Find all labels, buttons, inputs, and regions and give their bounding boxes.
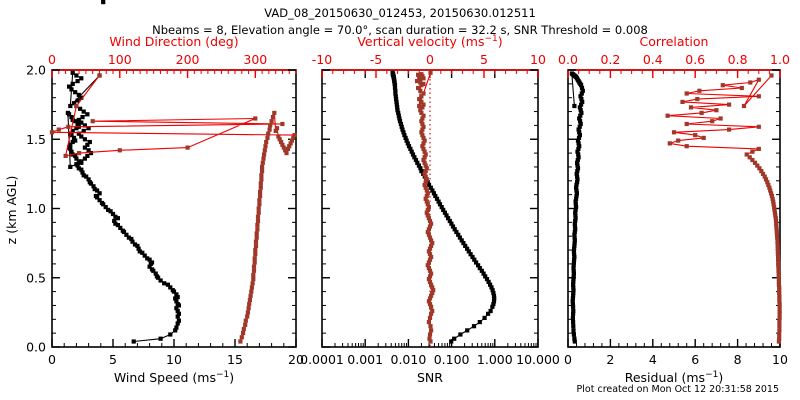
- data-point: [248, 298, 252, 302]
- data-point: [101, 0, 105, 4]
- data-point: [391, 71, 395, 75]
- data-point: [80, 115, 84, 119]
- data-point: [419, 72, 423, 76]
- data-point: [258, 190, 262, 194]
- data-point: [254, 240, 258, 244]
- data-point: [778, 316, 782, 320]
- x-tick-label: 1.000: [477, 352, 513, 367]
- data-point: [571, 309, 575, 313]
- data-point: [710, 119, 714, 123]
- data-point: [255, 227, 259, 231]
- data-point: [177, 319, 181, 323]
- data-point: [258, 194, 262, 198]
- data-point: [263, 148, 267, 152]
- data-point: [247, 306, 251, 310]
- data-point: [255, 223, 259, 227]
- data-point: [264, 140, 268, 144]
- data-point: [740, 86, 744, 90]
- x-tick-label: 0.001: [347, 352, 383, 367]
- data-point: [241, 331, 245, 335]
- top-x-tick-label: 5: [480, 52, 488, 67]
- data-point: [79, 159, 83, 163]
- data-point: [685, 122, 689, 126]
- data-point: [572, 332, 576, 336]
- data-point: [293, 133, 297, 137]
- x-tick-label: 10.000: [516, 352, 560, 367]
- data-point: [82, 110, 86, 114]
- data-point: [284, 151, 288, 155]
- data-point: [483, 316, 487, 320]
- data-point: [254, 244, 258, 248]
- x-tick-label: 2: [606, 352, 614, 367]
- data-point: [112, 219, 116, 223]
- data-point: [680, 100, 684, 104]
- data-point: [77, 151, 81, 155]
- top-x-tick-label: 0.2: [600, 52, 620, 67]
- data-point: [79, 76, 83, 80]
- data-point: [428, 332, 432, 336]
- data-point: [700, 111, 704, 115]
- x-tick-label: 6: [691, 352, 699, 367]
- data-point: [452, 337, 456, 341]
- data-point: [777, 332, 781, 336]
- top-x-tick-label: 0.6: [685, 52, 705, 67]
- data-point: [727, 103, 731, 107]
- data-point: [689, 105, 693, 109]
- data-point: [66, 111, 70, 115]
- top-x-tick-label: 0.8: [728, 52, 748, 67]
- data-point: [57, 128, 61, 132]
- data-point: [68, 104, 72, 108]
- data-point: [280, 122, 284, 126]
- y-tick-label: 0.0: [26, 340, 46, 355]
- data-point: [465, 328, 469, 332]
- data-point: [769, 73, 773, 77]
- data-point: [572, 337, 576, 341]
- data-point: [777, 328, 781, 332]
- data-point: [186, 146, 190, 150]
- data-point: [251, 277, 255, 281]
- data-point: [71, 82, 75, 86]
- y-tick-label: 0.5: [26, 270, 46, 285]
- data-point: [240, 335, 244, 339]
- data-point: [428, 71, 432, 75]
- data-point: [253, 252, 257, 256]
- y-axis-label: z (km AGL): [4, 176, 19, 245]
- plot-canvas: VAD_08_20150630_012453, 20150630.012511 …: [0, 0, 800, 400]
- x-tick-label: 10: [772, 352, 788, 367]
- data-point: [118, 148, 122, 152]
- data-point: [247, 302, 251, 306]
- data-point: [676, 139, 680, 143]
- data-point: [66, 125, 70, 129]
- data-point: [428, 324, 432, 328]
- top-x-axis-label: Correlation: [640, 34, 709, 49]
- data-point: [714, 108, 718, 112]
- data-point: [257, 206, 261, 210]
- data-point: [255, 236, 259, 240]
- top-x-tick-label: 0: [426, 52, 434, 67]
- data-point: [748, 80, 752, 84]
- data-point: [275, 126, 279, 130]
- data-point: [259, 182, 263, 186]
- footer-timestamp: Plot created on Mon Oct 12 20:31:58 2015: [577, 384, 779, 395]
- data-point: [256, 219, 260, 223]
- data-point: [174, 326, 178, 330]
- data-point: [257, 211, 261, 215]
- data-point: [253, 256, 257, 260]
- data-point: [85, 112, 89, 116]
- data-point: [50, 130, 54, 134]
- data-point: [570, 71, 574, 75]
- svg-text:Vertical velocity (ms−1): Vertical velocity (ms−1): [357, 34, 502, 49]
- data-point: [489, 309, 493, 313]
- data-point: [261, 161, 265, 165]
- x-tick-label: 15: [227, 352, 243, 367]
- data-point: [265, 136, 269, 140]
- data-point: [777, 324, 781, 328]
- data-point: [757, 125, 761, 129]
- data-point: [266, 132, 270, 136]
- data-point: [91, 119, 95, 123]
- data-point: [571, 324, 575, 328]
- data-point: [685, 91, 689, 95]
- y-tick-label: 2.0: [26, 63, 46, 78]
- data-point: [242, 327, 246, 331]
- data-point: [697, 89, 701, 93]
- data-point: [74, 162, 78, 166]
- data-point: [268, 123, 272, 127]
- data-point: [64, 154, 68, 158]
- data-point: [430, 309, 434, 313]
- data-point: [74, 104, 78, 108]
- data-point: [97, 73, 101, 77]
- data-point: [727, 128, 731, 132]
- data-point: [168, 332, 172, 336]
- top-x-axis-label: Vertical velocity (ms−1): [357, 34, 502, 49]
- data-point: [702, 136, 706, 140]
- data-point: [672, 130, 676, 134]
- data-point: [685, 144, 689, 148]
- data-point: [427, 320, 431, 324]
- x-tick-label: 0.010: [391, 352, 427, 367]
- data-point: [83, 137, 87, 141]
- data-point: [252, 265, 256, 269]
- data-point: [263, 144, 267, 148]
- data-point: [259, 186, 263, 190]
- data-point: [571, 328, 575, 332]
- data-point: [572, 104, 576, 108]
- data-point: [246, 310, 250, 314]
- data-point: [73, 90, 77, 94]
- x-tick-label: 0.100: [434, 352, 470, 367]
- data-point: [252, 269, 256, 273]
- data-point: [74, 73, 78, 77]
- data-point: [742, 104, 746, 108]
- data-point: [245, 314, 249, 318]
- data-point: [238, 339, 242, 343]
- data-point: [666, 114, 670, 118]
- top-x-tick-label: 10: [530, 52, 546, 67]
- data-point: [85, 154, 89, 158]
- data-point: [271, 115, 275, 119]
- data-point: [253, 248, 257, 252]
- data-point: [253, 260, 257, 264]
- top-x-tick-label: 300: [243, 52, 267, 67]
- data-point: [162, 281, 166, 285]
- data-point: [695, 97, 699, 101]
- data-point: [719, 116, 723, 120]
- top-x-tick-label: -10: [312, 52, 332, 67]
- figure-title-line1: VAD_08_20150630_012453, 20150630.012511: [264, 6, 536, 20]
- data-point: [721, 83, 725, 87]
- data-point: [68, 165, 72, 169]
- data-point: [777, 320, 781, 324]
- data-point: [250, 285, 254, 289]
- data-point: [757, 147, 761, 151]
- data-point: [750, 150, 754, 154]
- top-x-tick-label: 100: [108, 52, 132, 67]
- top-x-tick-label: -5: [370, 52, 382, 67]
- data-point: [571, 320, 575, 324]
- data-point: [159, 337, 163, 341]
- x-tick-label: 4: [649, 352, 657, 367]
- data-point: [253, 116, 257, 120]
- data-point: [78, 107, 82, 111]
- top-x-axis-label: Wind Direction (deg): [109, 34, 238, 49]
- data-point: [668, 141, 672, 145]
- data-point: [67, 85, 71, 89]
- x-tick-label: 10: [166, 352, 182, 367]
- data-point: [132, 339, 136, 343]
- data-point: [249, 290, 253, 294]
- data-point: [777, 337, 781, 341]
- data-point: [256, 215, 260, 219]
- data-point: [71, 71, 75, 75]
- data-point: [428, 316, 432, 320]
- data-point: [259, 173, 263, 177]
- data-point: [745, 152, 749, 156]
- data-point: [272, 111, 276, 115]
- x-tick-label: 0.0001: [300, 352, 344, 367]
- data-point: [427, 337, 431, 341]
- data-point: [472, 324, 476, 328]
- data-point: [255, 231, 259, 235]
- data-point: [458, 332, 462, 336]
- x-tick-label: 8: [734, 352, 742, 367]
- data-point: [249, 294, 253, 298]
- data-point: [757, 94, 761, 98]
- data-point: [270, 119, 274, 123]
- data-point: [87, 148, 91, 152]
- data-point: [262, 152, 266, 156]
- vad-plot-figure: VAD_08_20150630_012453, 20150630.012511 …: [0, 0, 800, 400]
- data-point: [571, 316, 575, 320]
- x-tick-label: 0: [48, 352, 56, 367]
- data-point: [251, 273, 255, 277]
- x-tick-label: 0: [564, 352, 572, 367]
- data-point: [261, 157, 265, 161]
- data-point: [257, 198, 261, 202]
- data-point: [260, 169, 264, 173]
- data-point: [257, 202, 261, 206]
- data-point: [478, 320, 482, 324]
- data-point: [76, 79, 80, 83]
- data-point: [243, 323, 247, 327]
- data-point: [94, 194, 98, 198]
- top-x-tick-label: 200: [176, 52, 200, 67]
- x-axis-label: SNR: [417, 370, 443, 385]
- data-point: [77, 118, 81, 122]
- data-point: [77, 93, 81, 97]
- data-point: [268, 128, 272, 132]
- data-point: [259, 177, 263, 181]
- data-point: [244, 319, 248, 323]
- data-point: [429, 328, 433, 332]
- x-tick-label: 5: [109, 352, 117, 367]
- top-x-tick-label: 1.0: [770, 52, 790, 67]
- data-point: [260, 165, 264, 169]
- data-point: [757, 78, 761, 82]
- data-point: [166, 283, 170, 287]
- data-point: [693, 133, 697, 137]
- y-tick-label: 1.0: [26, 201, 46, 216]
- data-point: [417, 104, 421, 108]
- top-x-tick-label: 0.4: [643, 52, 663, 67]
- data-point: [251, 281, 255, 285]
- y-tick-label: 1.5: [26, 132, 46, 147]
- top-x-tick-label: 0.0: [558, 52, 578, 67]
- data-point: [88, 140, 92, 144]
- top-x-tick-label: 0: [48, 52, 56, 67]
- data-point: [778, 309, 782, 313]
